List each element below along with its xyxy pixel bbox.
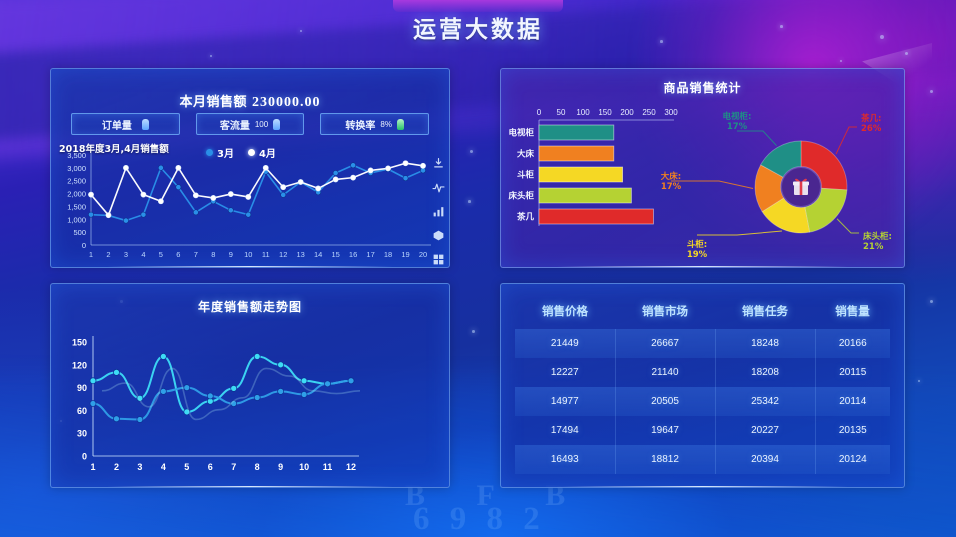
stat-pill-traffic-value: 100 <box>255 120 268 129</box>
table-cell: 18248 <box>715 329 815 358</box>
svg-text:2: 2 <box>106 250 110 259</box>
annual-trend-line-chart: 0306090120150123456789101112 <box>51 284 450 488</box>
svg-text:0: 0 <box>537 108 542 117</box>
svg-text:150: 150 <box>72 338 87 348</box>
svg-text:17%: 17% <box>661 182 682 192</box>
svg-text:20: 20 <box>419 250 427 259</box>
svg-text:50: 50 <box>557 108 566 117</box>
hexagon-icon[interactable] <box>432 229 445 242</box>
svg-text:17%: 17% <box>727 122 748 132</box>
table-cell: 14977 <box>515 387 615 416</box>
table-cell: 20114 <box>815 387 890 416</box>
svg-text:1: 1 <box>90 462 95 472</box>
table-cell: 20394 <box>715 445 815 474</box>
svg-text:120: 120 <box>72 360 87 370</box>
svg-text:大床: 大床 <box>517 149 535 160</box>
table-cell: 20115 <box>815 358 890 387</box>
svg-text:90: 90 <box>77 383 87 393</box>
bar-chart-icon[interactable] <box>432 205 445 218</box>
table-cell: 16493 <box>515 445 615 474</box>
svg-text:7: 7 <box>194 250 198 259</box>
svg-text:床头柜: 床头柜 <box>508 191 534 202</box>
svg-text:斗柜: 斗柜 <box>517 170 535 181</box>
svg-text:12: 12 <box>346 462 356 472</box>
monthly-sales-amount: 230000.00 <box>252 95 321 110</box>
svg-text:14: 14 <box>314 250 322 259</box>
svg-text:11: 11 <box>262 250 270 259</box>
table-cell: 20505 <box>615 387 715 416</box>
svg-text:电视柜: 电视柜 <box>508 128 534 139</box>
page-title: 运营大数据 <box>0 10 956 44</box>
table-header-3[interactable]: 销售任务 <box>715 294 815 329</box>
ghost-text-line2: 6 9 8 2 <box>413 501 546 535</box>
svg-text:2,000: 2,000 <box>67 190 86 199</box>
svg-text:150: 150 <box>598 108 612 117</box>
svg-text:7: 7 <box>231 462 236 472</box>
stat-pill-row: 订单量 客流量 100 转换率 8% <box>71 113 429 135</box>
svg-text:0: 0 <box>82 241 86 250</box>
svg-text:1,000: 1,000 <box>67 215 86 224</box>
table-cell: 21449 <box>515 329 615 358</box>
monthly-sales-label: 本月销售额 <box>179 95 247 110</box>
svg-text:斗柜:: 斗柜: <box>687 239 707 250</box>
table-row[interactable]: 21449266671824820166 <box>515 329 890 358</box>
svg-text:3: 3 <box>124 250 128 259</box>
svg-text:13: 13 <box>297 250 305 259</box>
card-sales-table: 销售价格销售市场销售任务销售量 214492666718248201661222… <box>500 283 905 488</box>
svg-text:1,500: 1,500 <box>67 202 86 211</box>
table-row[interactable]: 14977205052534220114 <box>515 387 890 416</box>
svg-text:17: 17 <box>366 250 374 259</box>
svg-text:30: 30 <box>77 429 87 439</box>
table-header-1[interactable]: 销售价格 <box>515 294 615 329</box>
table-row[interactable]: 17494196472022720135 <box>515 416 890 445</box>
svg-text:8: 8 <box>211 250 215 259</box>
card-product-sales: 商品销售统计 050100150200250300电视柜大床斗柜床头柜茶几茶几:… <box>500 68 905 268</box>
table-cell: 21140 <box>615 358 715 387</box>
table-header-4[interactable]: 销售量 <box>815 294 890 329</box>
svg-text:4: 4 <box>141 250 145 259</box>
svg-text:100: 100 <box>576 108 590 117</box>
svg-text:18: 18 <box>384 250 392 259</box>
svg-text:3,500: 3,500 <box>67 151 86 160</box>
svg-text:5: 5 <box>159 250 163 259</box>
svg-text:10: 10 <box>299 462 309 472</box>
svg-text:21%: 21% <box>863 242 884 252</box>
page-title-text: 运营大数据 <box>413 17 543 43</box>
svg-text:9: 9 <box>278 462 283 472</box>
grid-icon[interactable] <box>432 253 445 266</box>
svg-text:电视柜:: 电视柜: <box>723 111 752 122</box>
svg-text:10: 10 <box>244 250 252 259</box>
svg-text:26%: 26% <box>861 124 882 134</box>
table-cell: 17494 <box>515 416 615 445</box>
svg-text:床头柜:: 床头柜: <box>863 231 892 242</box>
stat-pill-conversion[interactable]: 转换率 8% <box>320 113 429 135</box>
svg-text:2,500: 2,500 <box>67 177 86 186</box>
table-cell: 18812 <box>615 445 715 474</box>
svg-text:8: 8 <box>255 462 260 472</box>
svg-text:0: 0 <box>82 452 87 462</box>
card-monthly-sales: 本月销售额 230000.00 订单量 客流量 100 转换率 8% 2018年… <box>50 68 450 268</box>
table-body: 2144926667182482016612227211401820820115… <box>515 329 890 474</box>
download-icon[interactable] <box>432 157 445 170</box>
svg-text:60: 60 <box>77 406 87 416</box>
chart-icon-rail <box>432 157 445 266</box>
table-header-2[interactable]: 销售市场 <box>615 294 715 329</box>
svg-text:2: 2 <box>114 462 119 472</box>
table-cell: 20124 <box>815 445 890 474</box>
stat-pill-conversion-value: 8% <box>380 120 392 129</box>
svg-text:250: 250 <box>642 108 656 117</box>
svg-text:300: 300 <box>664 108 678 117</box>
svg-text:茶几:: 茶几: <box>860 113 881 124</box>
svg-text:200: 200 <box>620 108 634 117</box>
sales-line-chart: 05001,0001,5002,0002,5003,0003,500123456… <box>51 147 450 268</box>
svg-text:3,000: 3,000 <box>67 164 86 173</box>
table-cell: 20166 <box>815 329 890 358</box>
title-tab-decoration <box>393 0 563 12</box>
svg-text:3: 3 <box>137 462 142 472</box>
svg-text:6: 6 <box>208 462 213 472</box>
stat-pill-conversion-label: 转换率 <box>345 117 375 132</box>
svg-text:19: 19 <box>401 250 409 259</box>
product-sales-charts: 050100150200250300电视柜大床斗柜床头柜茶几茶几:26%床头柜:… <box>501 69 905 268</box>
svg-text:16: 16 <box>349 250 357 259</box>
svg-text:6: 6 <box>176 250 180 259</box>
svg-text:茶几: 茶几 <box>516 212 535 223</box>
sales-table-wrapper: 销售价格销售市场销售任务销售量 214492666718248201661222… <box>515 294 890 475</box>
arrow-up-blue-icon <box>142 119 149 130</box>
svg-text:500: 500 <box>73 228 86 237</box>
svg-text:1: 1 <box>89 250 93 259</box>
svg-text:12: 12 <box>279 250 287 259</box>
monthly-sales-headline: 本月销售额 230000.00 <box>51 91 449 111</box>
table-cell: 18208 <box>715 358 815 387</box>
stat-pill-traffic-label: 客流量 <box>220 117 250 132</box>
table-header-row: 销售价格销售市场销售任务销售量 <box>515 294 890 329</box>
svg-text:大床:: 大床: <box>661 171 681 182</box>
stat-pill-orders[interactable]: 订单量 <box>71 113 180 135</box>
svg-text:11: 11 <box>323 462 333 472</box>
svg-text:5: 5 <box>184 462 189 472</box>
table-cell: 26667 <box>615 329 715 358</box>
svg-text:15: 15 <box>331 250 339 259</box>
sales-table: 销售价格销售市场销售任务销售量 214492666718248201661222… <box>515 294 890 474</box>
table-cell: 12227 <box>515 358 615 387</box>
table-cell: 25342 <box>715 387 815 416</box>
table-cell: 20135 <box>815 416 890 445</box>
table-cell: 19647 <box>615 416 715 445</box>
svg-text:4: 4 <box>161 462 166 472</box>
table-row[interactable]: 12227211401820820115 <box>515 358 890 387</box>
svg-text:9: 9 <box>229 250 233 259</box>
stat-pill-orders-label: 订单量 <box>102 117 132 132</box>
stat-pill-traffic[interactable]: 客流量 100 <box>196 113 305 135</box>
table-cell: 20227 <box>715 416 815 445</box>
pulse-icon[interactable] <box>432 181 445 194</box>
arrow-up-blue-icon <box>273 119 280 130</box>
card-annual-trend: 年度销售额走势图 0306090120150123456789101112 65… <box>50 283 450 488</box>
arrow-up-green-icon <box>397 119 404 130</box>
svg-text:19%: 19% <box>687 250 708 260</box>
table-row[interactable]: 16493188122039420124 <box>515 445 890 474</box>
